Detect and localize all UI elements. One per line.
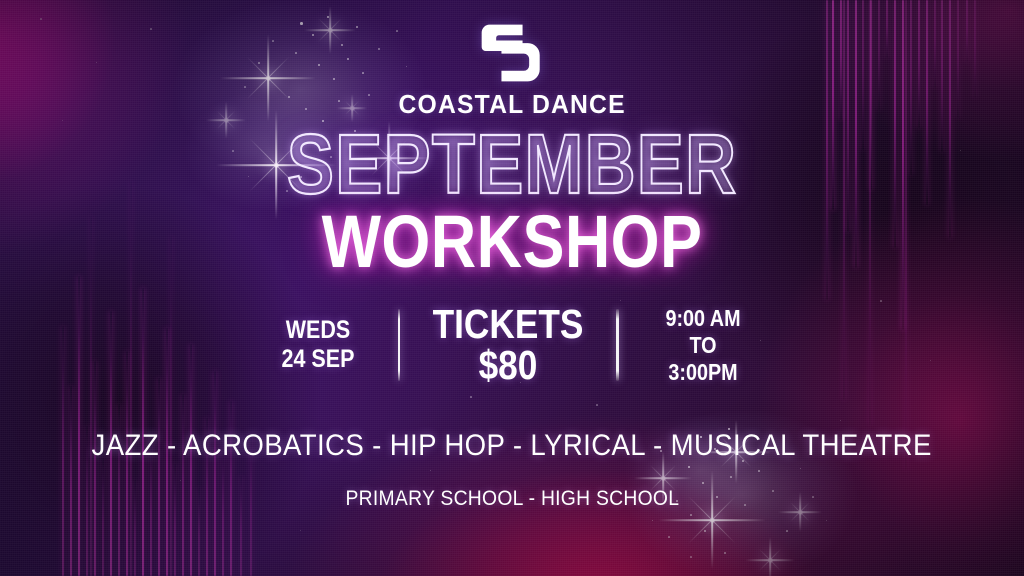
- headline-event: WORKSHOP: [322, 207, 703, 277]
- detail-price-amount: $80: [479, 345, 538, 387]
- detail-time-start: 9:00 AM: [665, 305, 740, 332]
- event-details-row: WEDS 24 SEP TICKETS $80 9:00 AM TO 3:00P…: [252, 304, 773, 388]
- detail-divider-2: [616, 309, 619, 381]
- detail-date-line-1: WEDS: [285, 316, 350, 346]
- detail-time: 9:00 AM TO 3:00PM: [642, 305, 762, 385]
- coastal-dance-cd-monogram-icon: [479, 22, 545, 84]
- poster-content: COASTAL DANCE SEPTEMBER WORKSHOP WEDS 24…: [0, 0, 1024, 576]
- brand-wordmark: COASTAL DANCE: [398, 91, 625, 120]
- detail-time-end: 3:00PM: [668, 359, 737, 386]
- headline-month: SEPTEMBER: [287, 126, 737, 203]
- detail-date-line-2: 24 SEP: [281, 345, 354, 375]
- detail-divider-1: [398, 309, 401, 381]
- detail-price-label: TICKETS: [433, 304, 584, 346]
- detail-date: WEDS 24 SEP: [261, 316, 375, 375]
- age-level-list: PRIMARY SCHOOL - HIGH SCHOOL: [345, 487, 679, 511]
- genre-list: JAZZ - ACROBATICS - HIP HOP - LYRICAL - …: [92, 429, 932, 463]
- promo-poster: COASTAL DANCE SEPTEMBER WORKSHOP WEDS 24…: [0, 0, 1024, 576]
- detail-time-separator: TO: [689, 332, 716, 359]
- detail-price: TICKETS $80: [427, 304, 589, 388]
